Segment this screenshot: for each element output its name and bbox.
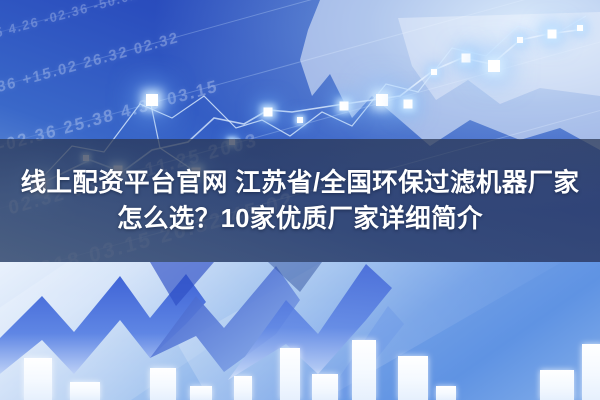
title-line-2: 怎么选？10家优质厂家详细简介 <box>117 202 483 236</box>
bar-chart-bar <box>280 348 300 400</box>
bar-chart-bar <box>150 368 176 400</box>
bar-chart-bar <box>70 382 100 400</box>
title-line-1: 线上配资平台官网 江苏省/全国环保过滤机器厂家 <box>21 166 580 200</box>
bottom-graphic-panel <box>0 262 600 400</box>
bar-chart-bar <box>24 358 52 400</box>
bar-chart-bar <box>312 374 338 400</box>
bar-chart-bar <box>540 370 574 400</box>
title-block: 线上配资平台官网 江苏省/全国环保过滤机器厂家 怎么选？10家优质厂家详细简介 <box>0 139 600 262</box>
bar-chart-bar <box>190 386 212 400</box>
zigzag-arrows <box>0 262 600 400</box>
bar-chart-bar <box>398 356 428 400</box>
bar-chart-bar <box>582 344 600 400</box>
promo-banner: 45.02 -08.36 -11.25 +15.02 -02.36 21.15 … <box>0 0 600 400</box>
bar-chart-bar <box>234 376 252 400</box>
bar-chart-bar <box>352 340 376 400</box>
bar-chart-bar <box>436 386 456 400</box>
